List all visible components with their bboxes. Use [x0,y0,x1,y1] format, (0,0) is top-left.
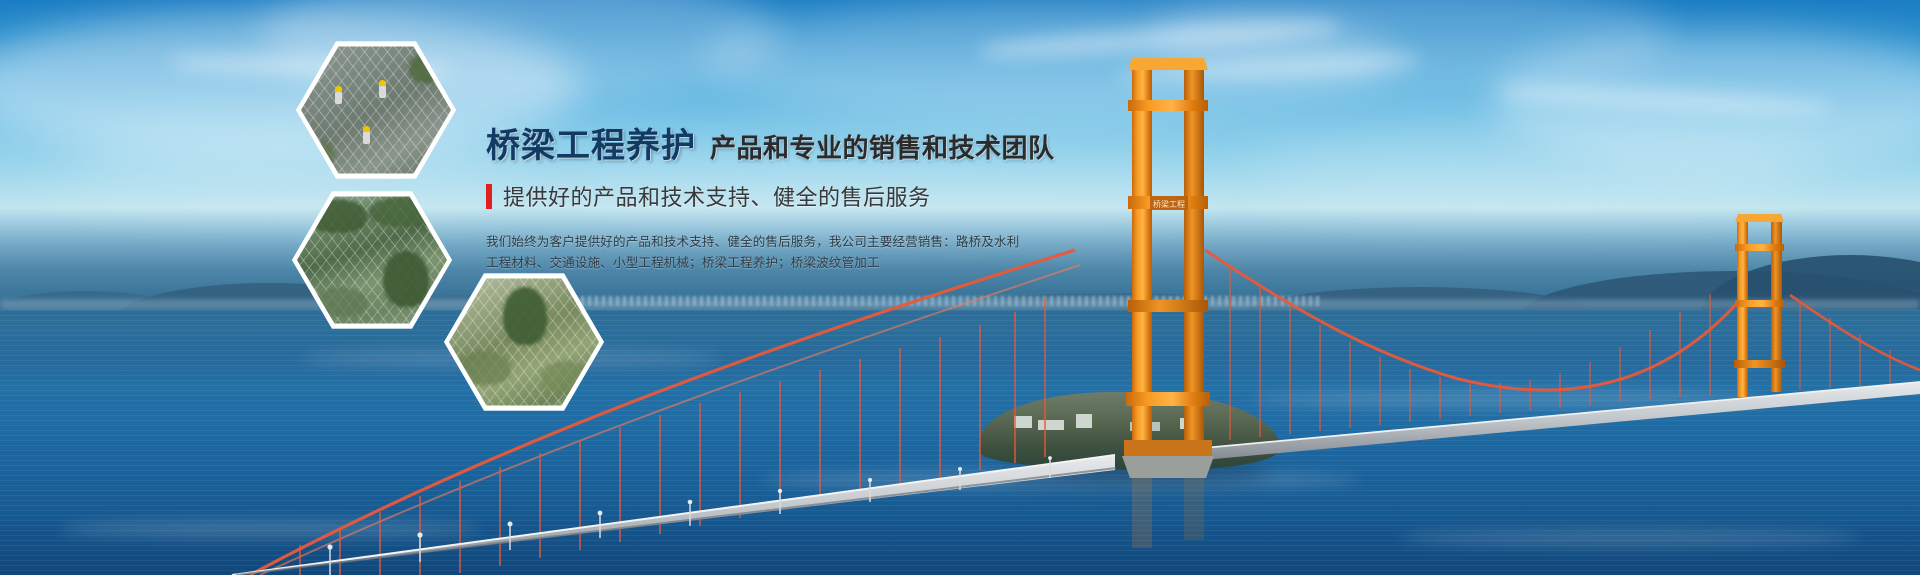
tree [383,251,429,307]
vegetation [369,197,439,227]
paragraph-line-1: 我们始终为客户提供好的产品和技术支持、健全的售后服务，我公司主要经营销售：路桥及… [486,232,1106,253]
worker-figure [335,91,342,104]
subheadline-text: 提供好的产品和技术支持、健全的售后服务 [503,180,931,212]
worker-figure [379,85,386,98]
vegetation [409,53,443,83]
paragraph-line-2: 工程材料、交通设施、小型工程机械；桥梁工程养护；桥梁波纹管加工 [486,253,1106,274]
vegetation [307,199,367,233]
headline-primary: 桥梁工程养护 [486,118,696,167]
tree [503,287,547,345]
headline-row: 桥梁工程养护 产品和专业的销售和技术团队 [486,118,1106,167]
island-building [1038,420,1064,430]
banner-paragraph: 我们始终为客户提供好的产品和技术支持、健全的售后服务，我公司主要经营销售：路桥及… [486,232,1106,274]
subheadline-row: 提供好的产品和技术支持、健全的售后服务 [486,180,1106,212]
island-building [1014,416,1032,428]
photo-hex-1[interactable] [296,40,456,180]
red-marker-icon [486,184,492,209]
banner-copy: 桥梁工程养护 产品和专业的销售和技术团队 提供好的产品和技术支持、健全的售后服务… [486,118,1106,274]
island-building [1130,422,1160,431]
vegetation [541,361,589,393]
worker-figure [363,131,370,144]
island-building [1076,414,1092,428]
water-glint [1250,390,1770,408]
photo-hex-3[interactable] [444,272,604,412]
hero-banner: 桥梁工程 [0,0,1920,575]
water-glint [60,520,480,538]
rock-slope-mesh-workers-photo [301,45,451,176]
water-glint [1400,530,1860,546]
cloud [1250,120,1810,210]
vegetation [305,141,335,167]
vegetation [315,287,367,317]
vegetation [457,351,511,385]
island-building [1180,418,1200,429]
headline-secondary: 产品和专业的销售和技术团队 [710,128,1055,165]
photo-hex-2[interactable] [292,190,452,330]
slope-greening-mesh-photo [449,277,599,408]
hillside-mesh-vegetation-photo [297,195,447,326]
mesh-overlay [301,45,451,176]
